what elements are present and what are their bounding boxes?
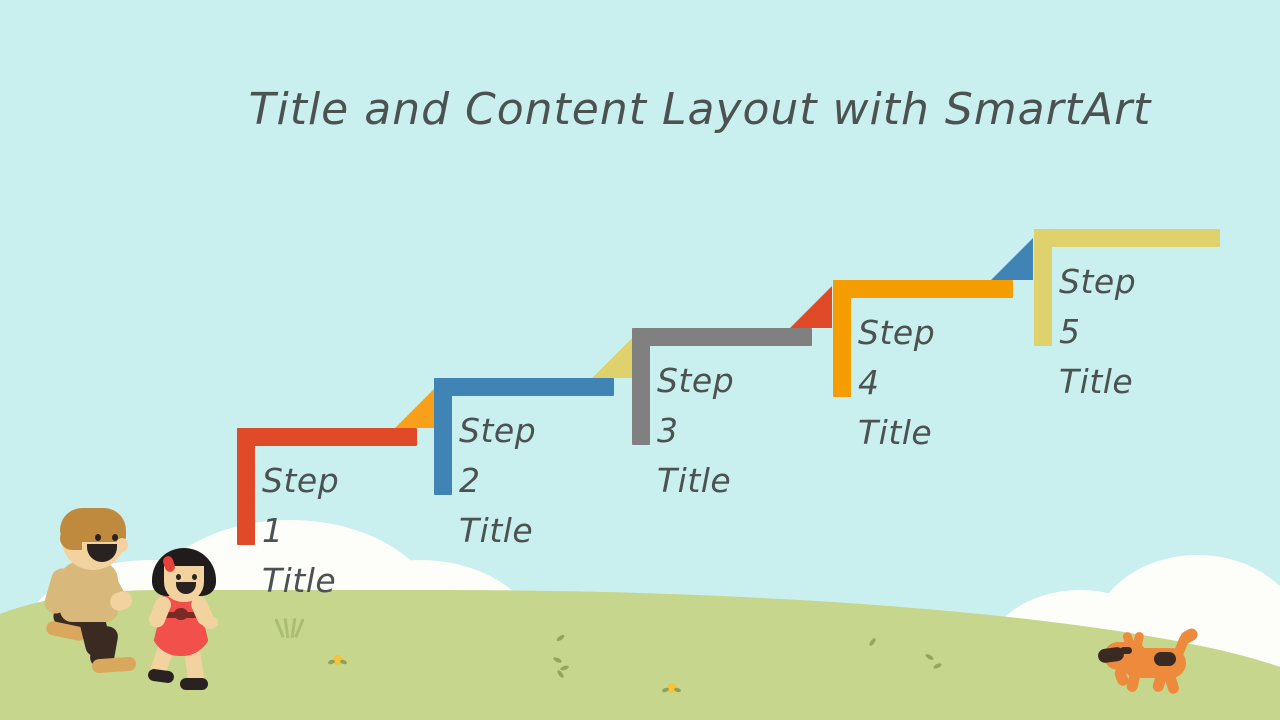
step-1-arrow-icon [395,386,437,428]
boy-front-shoe [92,656,137,673]
slide-canvas: Step 1 Title Step 2 Title Step 3 Title S… [0,0,1280,720]
step-2-horizontal-bar [434,378,614,396]
step-3-horizontal-bar [632,328,812,346]
step-1-horizontal-bar [237,428,417,446]
page-title[interactable]: Title and Content Layout with SmartArt [180,78,1220,142]
step-3-vertical-bar [632,328,650,445]
flower [333,655,343,665]
step-3-label: Step 3 Title [657,356,734,506]
step-4-arrow-icon [991,238,1033,280]
step-1-label: Step 1 Title [262,456,339,606]
dog-figure [1098,630,1208,696]
boy-eye [112,534,118,541]
step-4-vertical-bar [833,280,851,397]
step-5-label: Step 5 Title [1059,257,1136,407]
girl-back-shoe [147,668,174,684]
girl-bow [174,608,188,620]
grass-tuft [278,612,304,638]
girl-eye [176,574,181,580]
dog-eye [1120,647,1132,654]
boy-ear [116,538,128,552]
step-4-label: Step 4 Title [858,308,935,458]
step-5-horizontal-bar [1034,229,1220,247]
girl-eye [192,574,197,580]
step-1-vertical-bar [237,428,255,545]
dog-patch [1154,652,1176,666]
step-5-vertical-bar [1034,229,1052,346]
girl-front-shoe [180,678,208,690]
step-2-label: Step 2 Title [459,406,536,556]
step-2-arrow-icon [592,336,634,378]
flower [667,683,677,693]
step-3-arrow-icon [790,286,832,328]
step-4-horizontal-bar [833,280,1013,298]
boy-hair-fringe [60,526,82,550]
girl-figure [138,542,258,712]
boy-eye [95,534,101,541]
step-2-vertical-bar [434,378,452,495]
girl-hand [202,616,218,629]
